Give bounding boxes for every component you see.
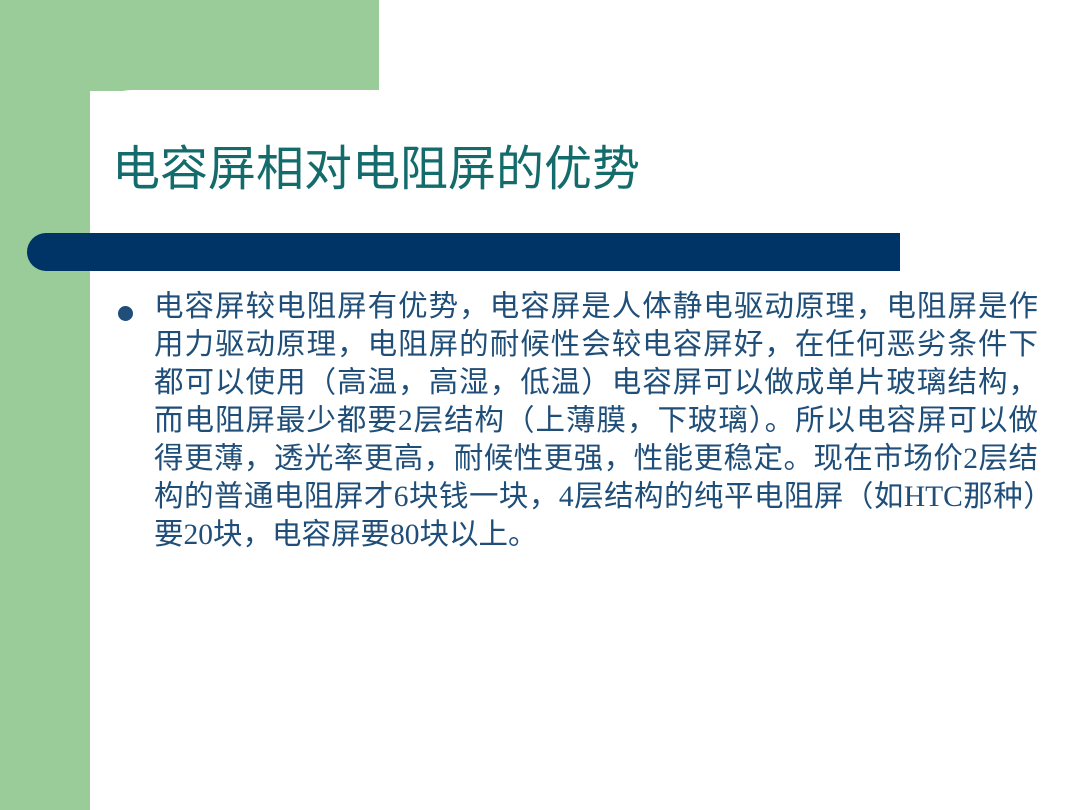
green-top-panel — [0, 0, 379, 91]
presentation-slide: 电容屏相对电阻屏的优势 电容屏较电阻屏有优势，电容屏是人体静电驱动原理，电阻屏是… — [0, 0, 1080, 810]
bullet-text: 电容屏较电阻屏有优势，电容屏是人体静电驱动原理，电阻屏是作用力驱动原理，电阻屏的… — [154, 288, 1038, 554]
title-underline-bar — [27, 233, 900, 271]
list-item: 电容屏较电阻屏有优势，电容屏是人体静电驱动原理，电阻屏是作用力驱动原理，电阻屏的… — [118, 288, 1038, 554]
page-title: 电容屏相对电阻屏的优势 — [112, 139, 1032, 201]
green-left-panel — [0, 0, 90, 810]
bullet-point-icon — [118, 306, 133, 321]
body-content: 电容屏较电阻屏有优势，电容屏是人体静电驱动原理，电阻屏是作用力驱动原理，电阻屏的… — [118, 288, 1038, 554]
